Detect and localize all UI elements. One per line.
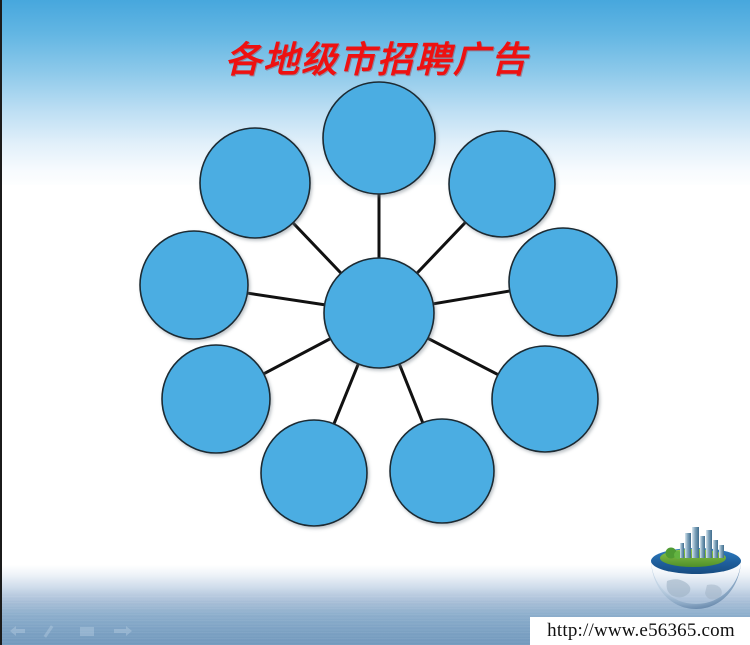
- globe-continent-a: [667, 579, 691, 597]
- building-icon: [685, 533, 691, 558]
- earth-city-globe-icon: [647, 523, 745, 613]
- building-icon: [700, 536, 705, 558]
- node-bottom-left[interactable]: [261, 420, 367, 526]
- building-icon: [713, 540, 718, 558]
- building-icon: [706, 530, 712, 558]
- presentation-slide: 各地级市招聘广告: [0, 0, 750, 645]
- node-bottom-right[interactable]: [390, 419, 494, 523]
- watermark: http://www.e56365.com: [530, 617, 750, 645]
- node-left-upper[interactable]: [140, 231, 248, 339]
- node-top-left[interactable]: [200, 128, 310, 238]
- globe-continent-b: [705, 585, 722, 600]
- watermark-url: http://www.e56365.com: [547, 620, 735, 642]
- node-right-upper[interactable]: [509, 228, 617, 336]
- node-center[interactable]: [324, 258, 434, 368]
- node-right-lower[interactable]: [492, 346, 598, 452]
- node-left-lower[interactable]: [162, 345, 270, 453]
- building-icon: [719, 545, 724, 558]
- building-icon: [692, 527, 699, 558]
- node-top-right[interactable]: [449, 131, 555, 237]
- building-icon: [680, 543, 684, 558]
- diagram-center-node[interactable]: [324, 258, 434, 368]
- radial-diagram: [2, 0, 750, 645]
- node-top[interactable]: [323, 82, 435, 194]
